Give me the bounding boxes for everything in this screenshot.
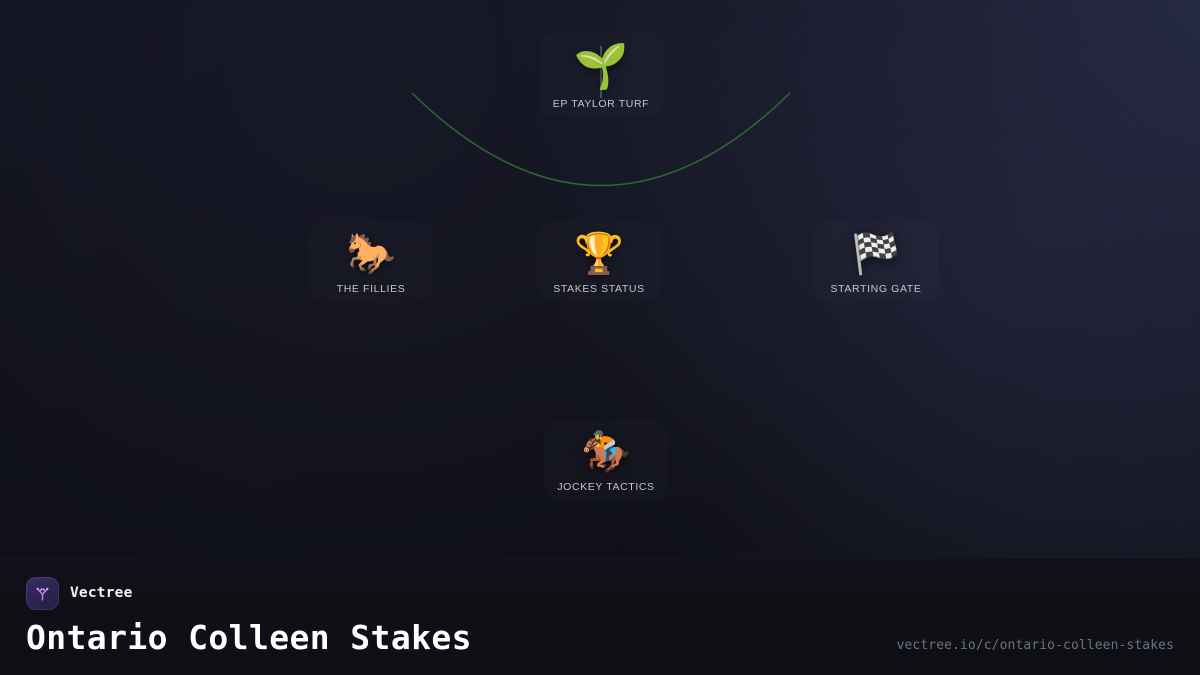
- brand-name: Vectree: [70, 585, 133, 601]
- node-label: STAKES STATUS: [553, 283, 645, 295]
- node-stakes-status[interactable]: 🏆 STAKES STATUS: [537, 222, 661, 302]
- node-ep-taylor-turf[interactable]: 🌱 EP TAYLOR TURF: [539, 33, 663, 117]
- mindmap-canvas[interactable]: 🌱 EP TAYLOR TURF 🐎 THE FILLIES 🏆 STAKES …: [0, 0, 1200, 555]
- node-the-fillies[interactable]: 🐎 THE FILLIES: [309, 222, 433, 302]
- brand-row: Vectree: [26, 577, 1174, 609]
- node-label: THE FILLIES: [337, 283, 406, 295]
- horse-icon: 🐎: [346, 231, 396, 277]
- page-url: vectree.io/c/ontario-colleen-stakes: [897, 638, 1174, 659]
- title-row: Ontario Colleen Stakes vectree.io/c/onta…: [26, 617, 1174, 659]
- checkered-flag-icon: 🏁: [851, 231, 901, 277]
- node-jockey-tactics[interactable]: 🏇 JOCKEY TACTICS: [544, 420, 668, 500]
- app-root: 🌱 EP TAYLOR TURF 🐎 THE FILLIES 🏆 STAKES …: [0, 0, 1200, 675]
- trophy-icon: 🏆: [574, 231, 624, 277]
- footer-bar: Vectree Ontario Colleen Stakes vectree.i…: [0, 558, 1200, 675]
- seedling-icon: 🌱: [574, 42, 629, 92]
- node-label: JOCKEY TACTICS: [557, 481, 654, 493]
- page-title: Ontario Colleen Stakes: [26, 617, 472, 659]
- horse-racing-icon: 🏇: [581, 429, 631, 475]
- node-starting-gate[interactable]: 🏁 STARTING GATE: [814, 222, 938, 302]
- node-label: EP TAYLOR TURF: [553, 98, 649, 110]
- node-label: STARTING GATE: [831, 283, 922, 295]
- vectree-tree-mark-icon[interactable]: [26, 577, 59, 610]
